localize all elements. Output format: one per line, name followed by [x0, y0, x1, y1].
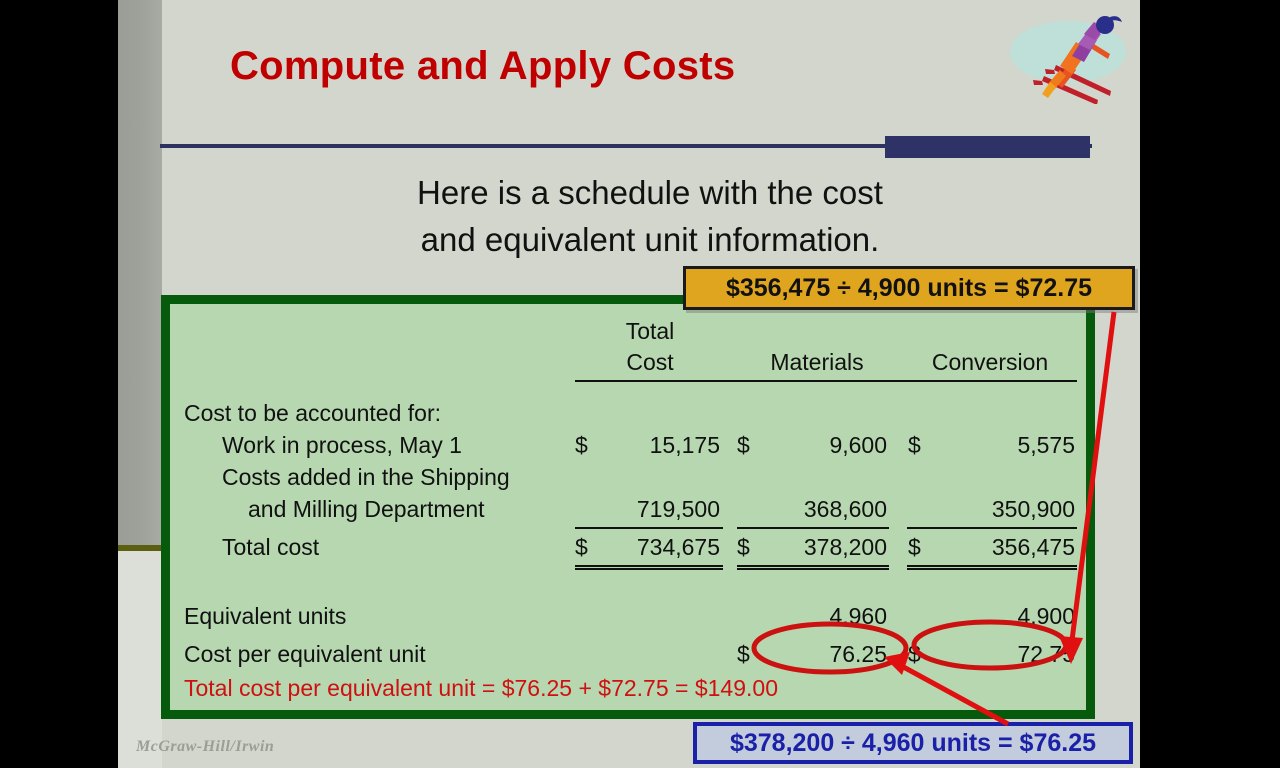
- cell-equivalent-units-conversion: 4,900: [903, 603, 1075, 630]
- row-label-cost-per-equivalent-unit: Cost per equivalent unit: [184, 641, 426, 668]
- summary-total-cost-per-equivalent-unit: Total cost per equivalent unit = $76.25 …: [184, 675, 778, 702]
- cell-equivalent-units-materials: 4,960: [732, 603, 887, 630]
- row-label-costs-added-line1: Costs added in the Shipping: [222, 464, 510, 491]
- cell-totalcost-materials: 378,200: [732, 534, 887, 561]
- column-header-total-line2: Cost: [570, 349, 730, 376]
- total-double-rule-materials: [737, 565, 889, 570]
- cell-cpeu-materials: 76.25: [732, 641, 887, 668]
- total-double-rule-total: [575, 565, 723, 570]
- row-label-costs-added-line2: and Milling Department: [248, 496, 485, 523]
- cell-added-conversion: 350,900: [903, 496, 1075, 523]
- downhill-skier-logo-icon: [998, 4, 1138, 104]
- slide-left-accent-band: [118, 0, 162, 550]
- column-header-materials: Materials: [732, 349, 902, 376]
- cell-wip-total: 15,175: [570, 432, 720, 459]
- callout-conversion-calculation: $356,475 ÷ 4,900 units = $72.75: [683, 266, 1135, 310]
- row-label-work-in-process: Work in process, May 1: [222, 432, 462, 459]
- callout-materials-calculation: $378,200 ÷ 4,960 units = $76.25: [693, 722, 1133, 764]
- row-label-equivalent-units: Equivalent units: [184, 603, 346, 630]
- footer-attribution: McGraw-Hill/Irwin: [136, 738, 274, 756]
- cell-added-total: 719,500: [570, 496, 720, 523]
- column-header-underline: [575, 380, 1077, 382]
- cost-schedule-panel: Total Cost Materials Conversion Cost to …: [161, 295, 1095, 719]
- slide-subtitle: Here is a schedule with the cost and equ…: [350, 170, 950, 264]
- column-header-total-line1: Total: [570, 318, 730, 345]
- subtotal-rule-total: [575, 527, 723, 529]
- slide-left-lower-panel: [118, 551, 162, 768]
- screenshot-root: Compute and Apply Costs Here is a schedu…: [0, 0, 1280, 768]
- cell-totalcost-total: 734,675: [570, 534, 720, 561]
- row-label-total-cost: Total cost: [222, 534, 319, 561]
- subtitle-line-2: and equivalent unit information.: [350, 217, 950, 264]
- subtitle-line-1: Here is a schedule with the cost: [350, 170, 950, 217]
- column-header-conversion: Conversion: [900, 349, 1080, 376]
- subtotal-rule-materials: [737, 527, 889, 529]
- cell-added-materials: 368,600: [732, 496, 887, 523]
- cell-wip-conversion: 5,575: [903, 432, 1075, 459]
- cell-cpeu-conversion: 72.75: [903, 641, 1075, 668]
- row-label-cost-to-be-accounted-for: Cost to be accounted for:: [184, 400, 441, 427]
- cell-totalcost-conversion: 356,475: [903, 534, 1075, 561]
- header-divider-block: [885, 136, 1090, 158]
- cell-wip-materials: 9,600: [732, 432, 887, 459]
- presentation-slide: Compute and Apply Costs Here is a schedu…: [118, 0, 1140, 768]
- page-title: Compute and Apply Costs: [230, 44, 735, 89]
- subtotal-rule-conversion: [907, 527, 1077, 529]
- total-double-rule-conversion: [907, 565, 1077, 570]
